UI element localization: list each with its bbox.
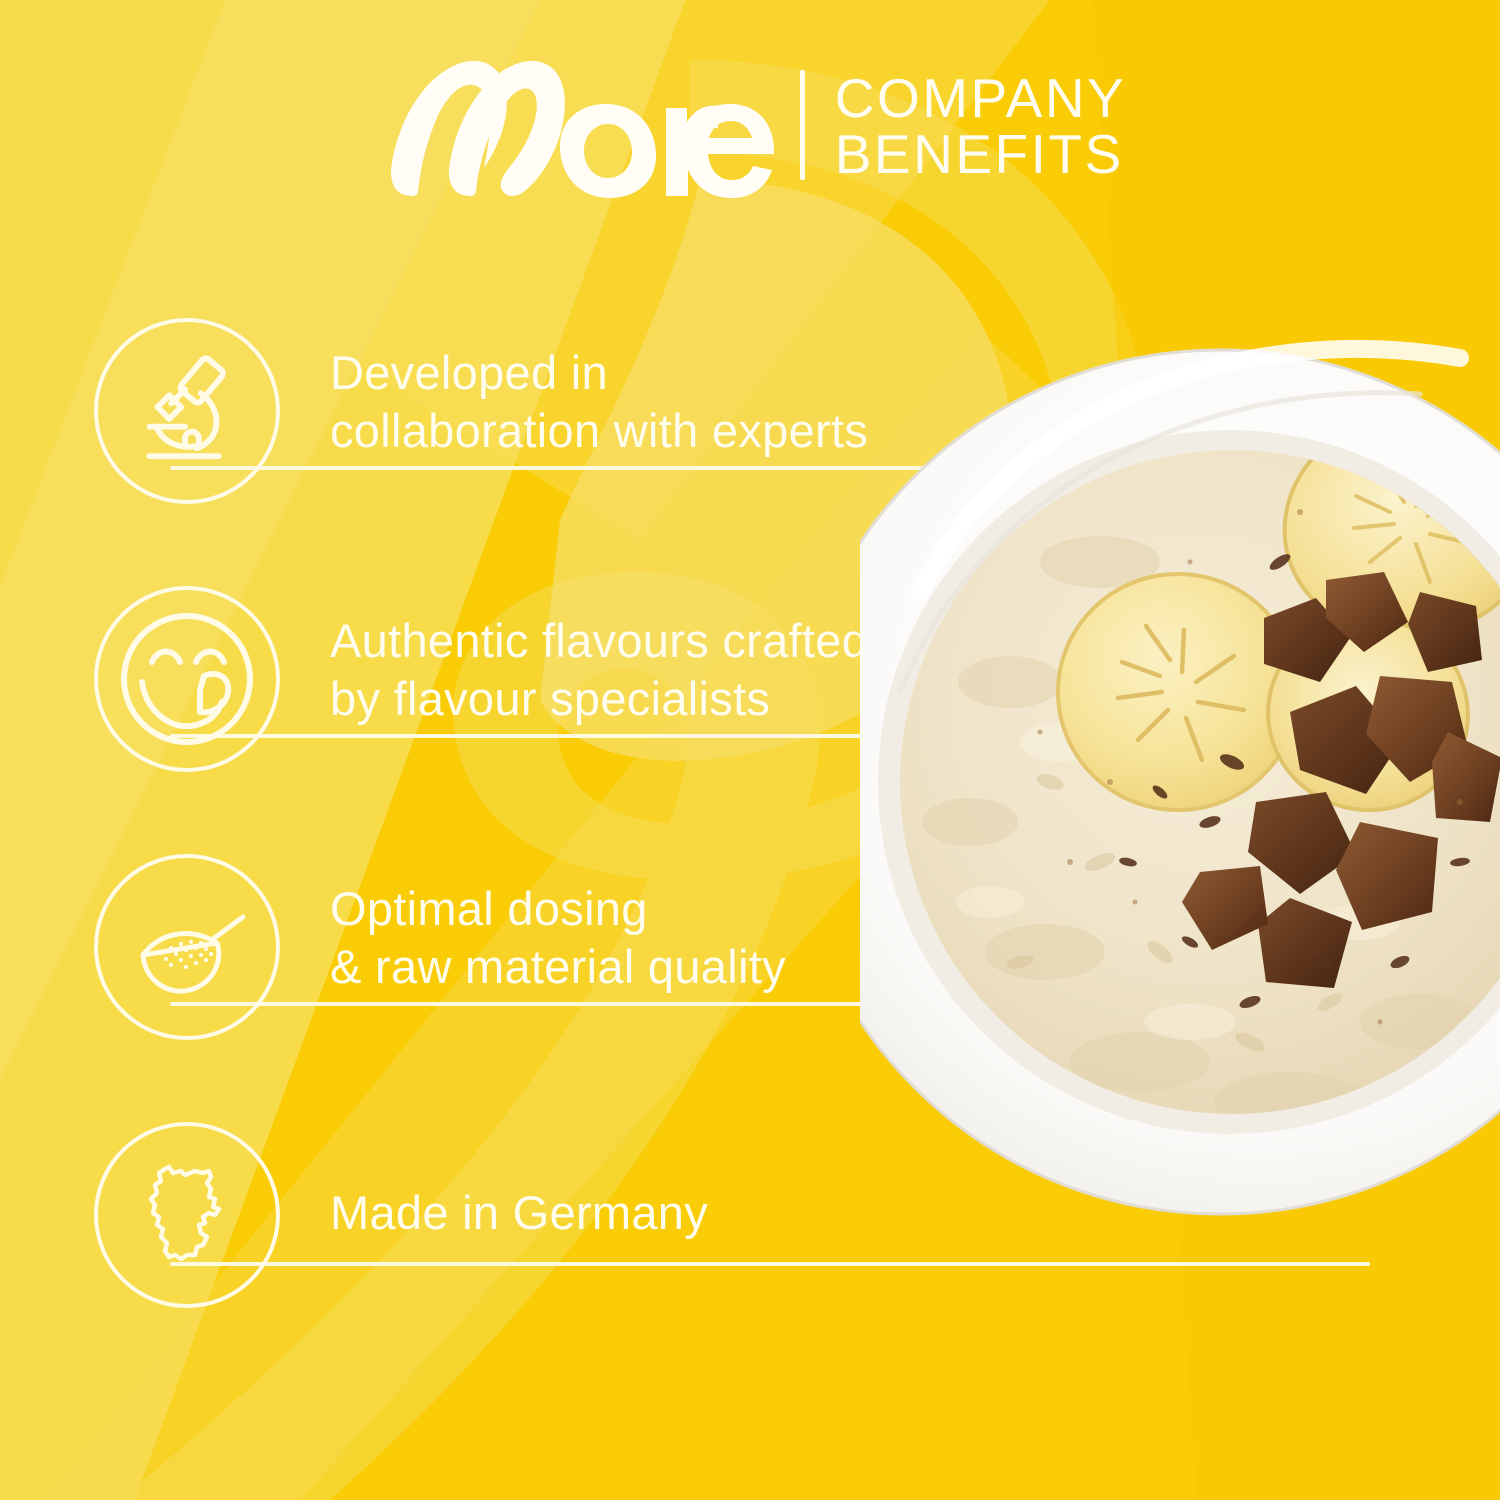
measuring-scoop-grain-icon [94, 854, 280, 1040]
porridge-bowl-photo [860, 262, 1500, 1302]
promo-banner: COMPANY BENEFITS [0, 0, 1500, 1500]
microscope-icon [94, 318, 280, 504]
smiley-tongue-icon [94, 586, 280, 772]
germany-map-icon [94, 1122, 280, 1308]
